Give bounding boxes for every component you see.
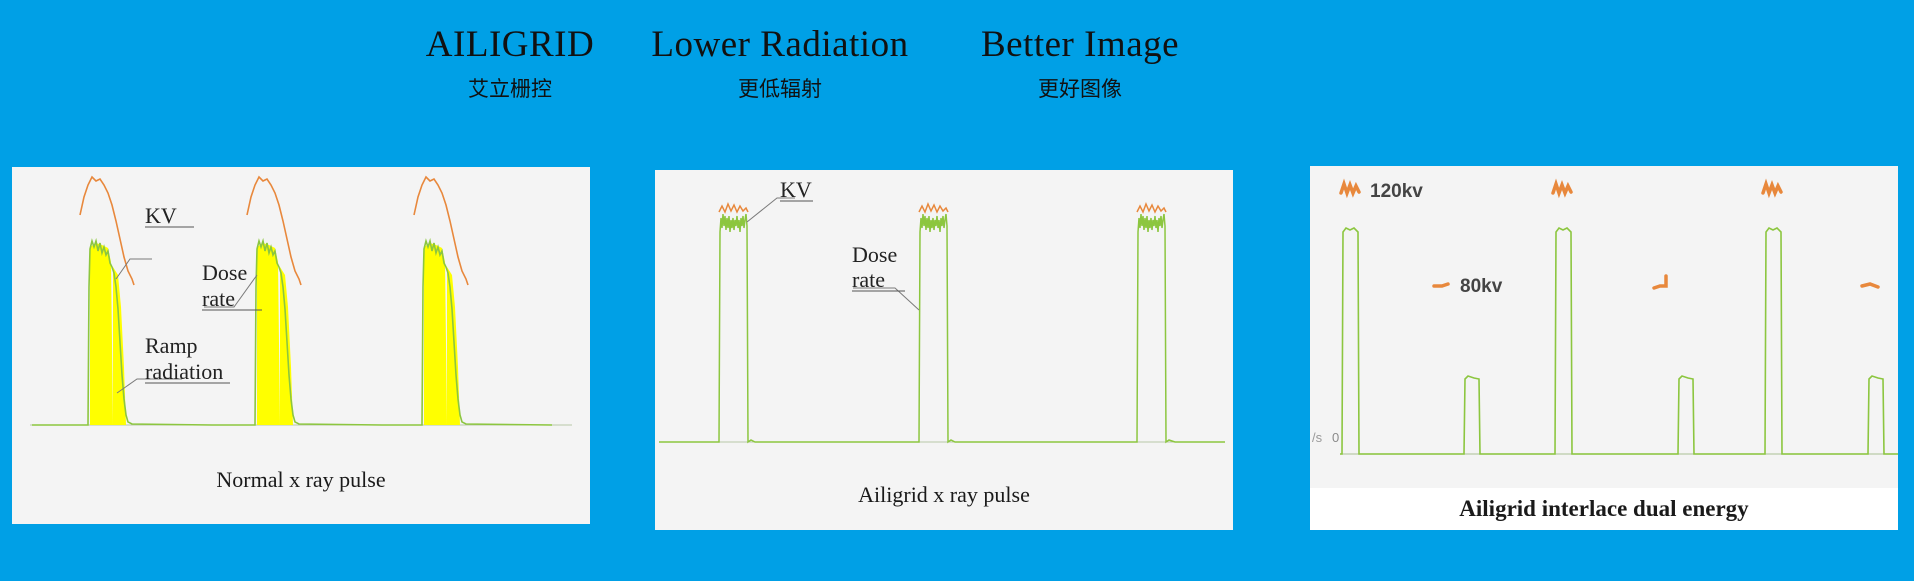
annotation-dose-rate: Dose rate bbox=[852, 242, 919, 310]
chart-ailigrid-interlace-dual-energy: /s 0 120kv 80kv bbox=[1310, 166, 1898, 488]
header-group-better-image: Better Image 更好图像 bbox=[920, 22, 1240, 104]
dose-rate-curve bbox=[659, 214, 825, 442]
header-title-en: Lower Radiation bbox=[620, 22, 940, 68]
low-energy-pulse bbox=[1580, 376, 1730, 454]
ramp-radiation-fill bbox=[90, 243, 113, 425]
panel-normal-x-ray-pulse: KV Dose rate Ramp radiation Normal x ray… bbox=[12, 167, 590, 524]
annotation-label: KV bbox=[780, 177, 812, 202]
high-energy-pulse bbox=[1730, 228, 1790, 454]
low-energy-pulse bbox=[1364, 376, 1510, 454]
kv-curve bbox=[1137, 204, 1166, 212]
low-energy-marker bbox=[1862, 284, 1878, 287]
header-title-cn: 艾立栅控 bbox=[380, 74, 640, 104]
high-energy-marker bbox=[1553, 184, 1571, 193]
annotation-label: Ramp bbox=[145, 333, 198, 358]
kv-curve bbox=[919, 204, 948, 212]
dose-rate-curve bbox=[382, 241, 552, 425]
annotation-label: Dose bbox=[852, 242, 897, 267]
annotation-label: Dose bbox=[202, 260, 247, 285]
legend-label-120kv: 120kv bbox=[1370, 181, 1423, 202]
header-group-lower-radiation: Lower Radiation 更低辐射 bbox=[620, 22, 940, 104]
annotation-label: rate bbox=[852, 267, 885, 292]
ramp-radiation-fill bbox=[424, 243, 447, 425]
panel-caption: Ailigrid x ray pulse bbox=[655, 482, 1233, 508]
panel-ailigrid-interlace-dual-energy: /s 0 120kv 80kv A bbox=[1310, 166, 1898, 530]
leader-line bbox=[116, 259, 152, 279]
high-energy-pulse bbox=[1510, 228, 1580, 454]
annotation-label: radiation bbox=[145, 359, 223, 384]
annotation-dose-rate: Dose rate bbox=[202, 260, 262, 311]
kv-curve bbox=[719, 204, 748, 212]
high-energy-pulse bbox=[1340, 228, 1364, 454]
legend-label-80kv: 80kv bbox=[1460, 276, 1503, 297]
low-energy-pulse bbox=[1790, 376, 1898, 454]
ramp-radiation-fill bbox=[257, 243, 280, 425]
panel-caption: Ailigrid interlace dual energy bbox=[1310, 488, 1898, 530]
high-energy-marker bbox=[1341, 184, 1359, 193]
header-title-cn: 更低辐射 bbox=[620, 74, 940, 104]
chart-ailigrid-x-ray-pulse: KV Dose rate bbox=[655, 170, 1233, 470]
chart-normal-x-ray-pulse: KV Dose rate Ramp radiation bbox=[12, 167, 590, 459]
annotation-ramp-radiation: Ramp radiation bbox=[117, 333, 230, 393]
annotation-kv: KV bbox=[747, 177, 813, 222]
axis-zero-label: 0 bbox=[1332, 430, 1339, 445]
panel-caption: Normal x ray pulse bbox=[12, 467, 590, 493]
header-group-ailigrid: AILIGRID 艾立栅控 bbox=[380, 22, 640, 104]
dose-rate-curve bbox=[1025, 214, 1225, 442]
low-energy-marker bbox=[1654, 276, 1666, 288]
panel-ailigrid-x-ray-pulse: KV Dose rate Ailigrid x ray pulse bbox=[655, 170, 1233, 530]
header-title-en: Better Image bbox=[920, 22, 1240, 68]
header-title-en: AILIGRID bbox=[380, 22, 640, 68]
high-energy-marker bbox=[1763, 184, 1781, 193]
low-energy-marker bbox=[1434, 284, 1448, 286]
header-title-cn: 更好图像 bbox=[920, 74, 1240, 104]
header-banner: AILIGRID 艾立栅控 Lower Radiation 更低辐射 Bette… bbox=[0, 22, 1914, 132]
axis-unit-label: /s bbox=[1312, 430, 1323, 445]
annotation-label: KV bbox=[145, 203, 177, 228]
annotation-label: rate bbox=[202, 286, 235, 311]
